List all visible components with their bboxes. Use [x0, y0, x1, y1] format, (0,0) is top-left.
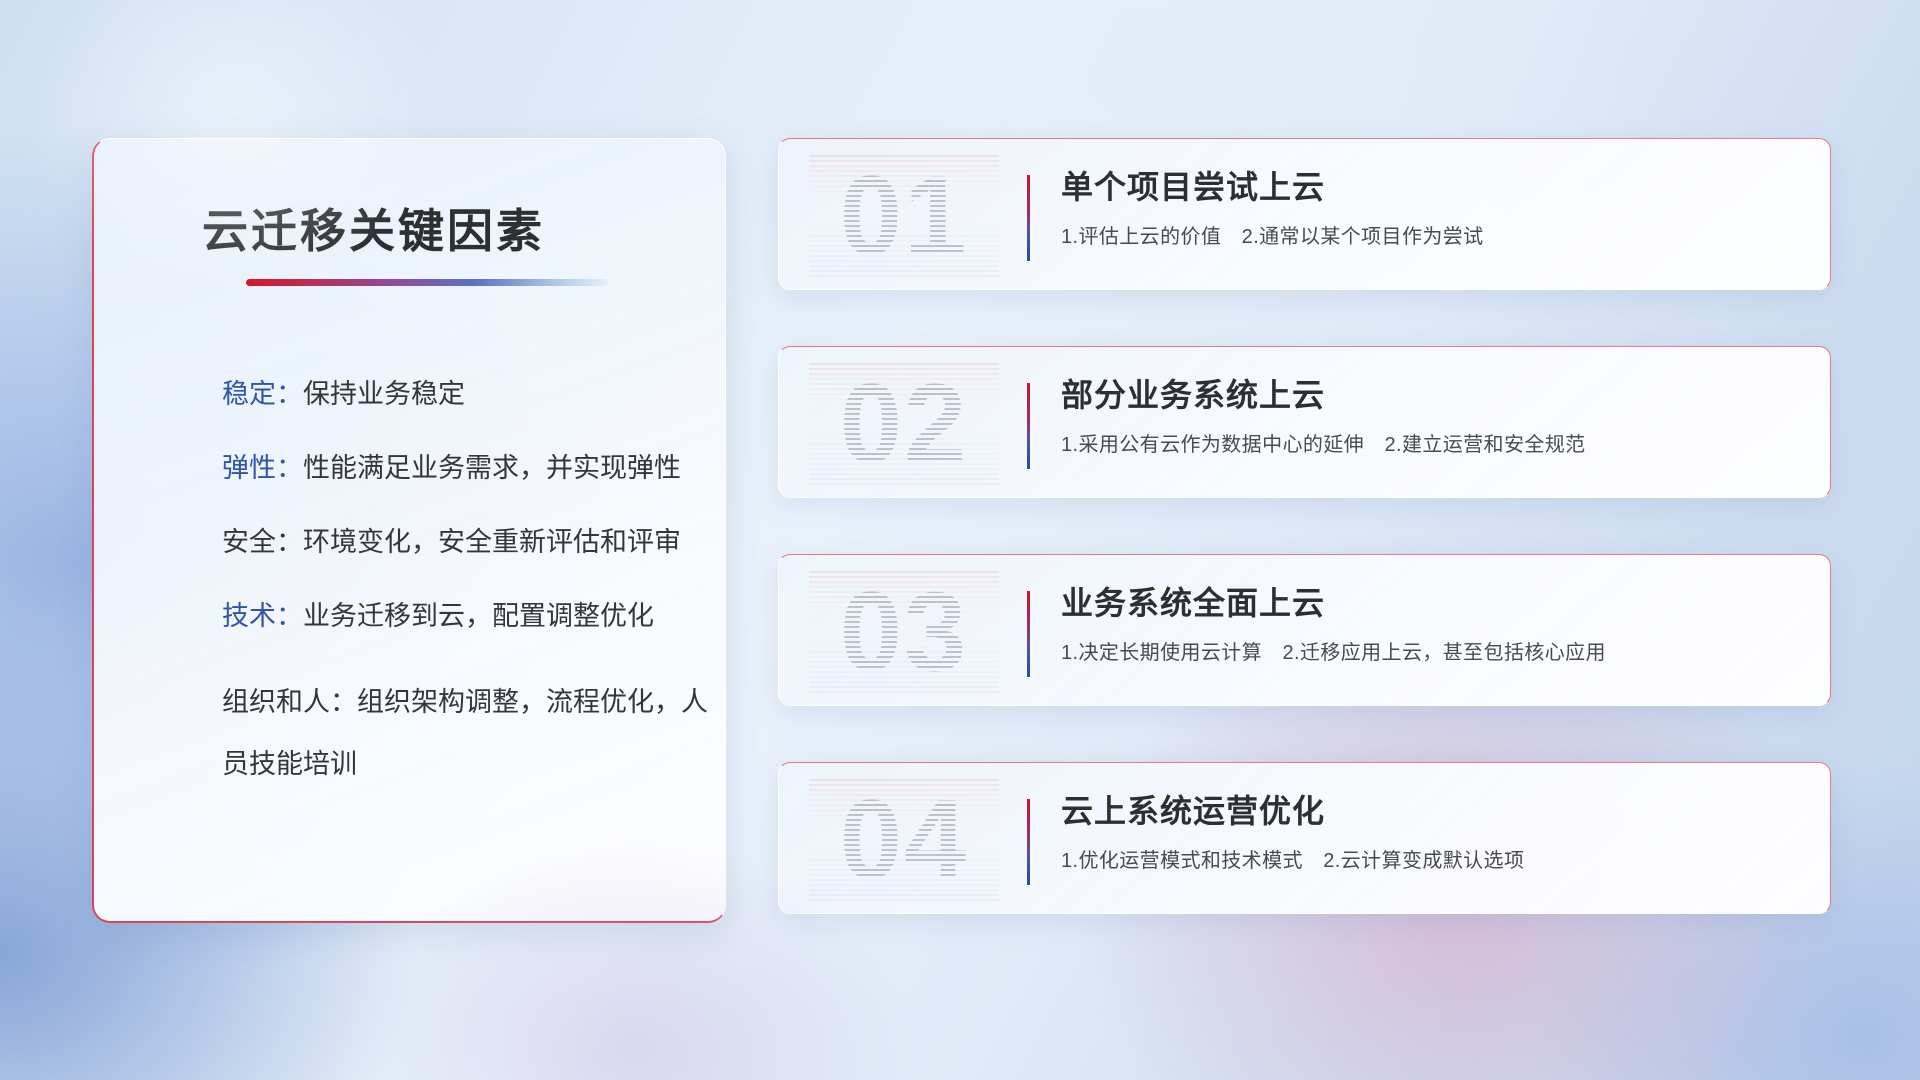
- slide-canvas: 云迁移关键因素 稳定：保持业务稳定 弹性：性能满足业务需求，并实现弹性 安全：环…: [0, 0, 1920, 1080]
- stage-card-04[interactable]: 04 云上系统运营优化 1.优化运营模式和技术模式 2.云计算变成默认选项: [778, 762, 1831, 914]
- title-underline-rule: [246, 279, 608, 286]
- stage-card-02[interactable]: 02 部分业务系统上云 1.采用公有云作为数据中心的延伸 2.建立运营和安全规范: [778, 346, 1831, 498]
- key-factors-panel: 云迁移关键因素 稳定：保持业务稳定 弹性：性能满足业务需求，并实现弹性 安全：环…: [92, 138, 726, 923]
- stage-body-03: 业务系统全面上云 1.决定长期使用云计算 2.迁移应用上云，甚至包括核心应用: [1061, 581, 1810, 667]
- stage-body-01: 单个项目尝试上云 1.评估上云的价值 2.通常以某个项目作为尝试: [1061, 165, 1810, 251]
- key-factors-panel-inner: 云迁移关键因素 稳定：保持业务稳定 弹性：性能满足业务需求，并实现弹性 安全：环…: [94, 139, 725, 921]
- stage-body-04: 云上系统运营优化 1.优化运营模式和技术模式 2.云计算变成默认选项: [1061, 789, 1810, 875]
- stage-number-02: 02: [809, 363, 999, 485]
- factor-item-technology: 技术：业务迁移到云，配置调整优化: [222, 597, 701, 635]
- factor-label-elasticity: 弹性：: [222, 453, 303, 483]
- factor-item-security: 安全：环境变化，安全重新评估和评审: [222, 523, 701, 561]
- migration-stage-list: 01 单个项目尝试上云 1.评估上云的价值 2.通常以某个项目作为尝试 02 部…: [778, 138, 1831, 914]
- factor-item-organization-and-people: 组织和人：组织架构调整，流程优化，人员技能培训: [222, 671, 722, 795]
- stage-desc-03: 1.决定长期使用云计算 2.迁移应用上云，甚至包括核心应用: [1061, 639, 1810, 667]
- factor-list: 稳定：保持业务稳定 弹性：性能满足业务需求，并实现弹性 安全：环境变化，安全重新…: [222, 375, 701, 795]
- stage-card-01[interactable]: 01 单个项目尝试上云 1.评估上云的价值 2.通常以某个项目作为尝试: [778, 138, 1831, 290]
- stage-card-03[interactable]: 03 业务系统全面上云 1.决定长期使用云计算 2.迁移应用上云，甚至包括核心应…: [778, 554, 1831, 706]
- stage-desc-04: 1.优化运营模式和技术模式 2.云计算变成默认选项: [1061, 847, 1810, 875]
- factor-label-stability: 稳定：: [222, 379, 303, 409]
- factor-label-technology: 技术：: [222, 601, 303, 631]
- stage-number-03: 03: [809, 571, 999, 693]
- stage-number-01: 01: [809, 155, 999, 277]
- factor-text-security: 环境变化，安全重新评估和评审: [303, 527, 681, 557]
- stage-desc-01: 1.评估上云的价值 2.通常以某个项目作为尝试: [1061, 223, 1810, 251]
- factor-label-organization-and-people: 组织和人：: [222, 687, 357, 717]
- factor-label-security: 安全：: [222, 527, 303, 557]
- factor-text-stability: 保持业务稳定: [303, 379, 465, 409]
- stage-desc-02: 1.采用公有云作为数据中心的延伸 2.建立运营和安全规范: [1061, 431, 1810, 459]
- stage-divider-02: [1027, 383, 1030, 469]
- stage-divider-04: [1027, 799, 1030, 885]
- stage-title-03: 业务系统全面上云: [1061, 581, 1810, 625]
- factor-text-elasticity: 性能满足业务需求，并实现弹性: [303, 453, 681, 483]
- stage-title-01: 单个项目尝试上云: [1061, 165, 1810, 209]
- factor-item-elasticity: 弹性：性能满足业务需求，并实现弹性: [222, 449, 701, 487]
- stage-title-02: 部分业务系统上云: [1061, 373, 1810, 417]
- page-title: 云迁移关键因素: [202, 195, 545, 261]
- stage-number-04: 04: [809, 779, 999, 901]
- stage-divider-01: [1027, 175, 1030, 261]
- factor-item-stability: 稳定：保持业务稳定: [222, 375, 701, 413]
- factor-text-technology: 业务迁移到云，配置调整优化: [303, 601, 654, 631]
- stage-body-02: 部分业务系统上云 1.采用公有云作为数据中心的延伸 2.建立运营和安全规范: [1061, 373, 1810, 459]
- stage-divider-03: [1027, 591, 1030, 677]
- stage-title-04: 云上系统运营优化: [1061, 789, 1810, 833]
